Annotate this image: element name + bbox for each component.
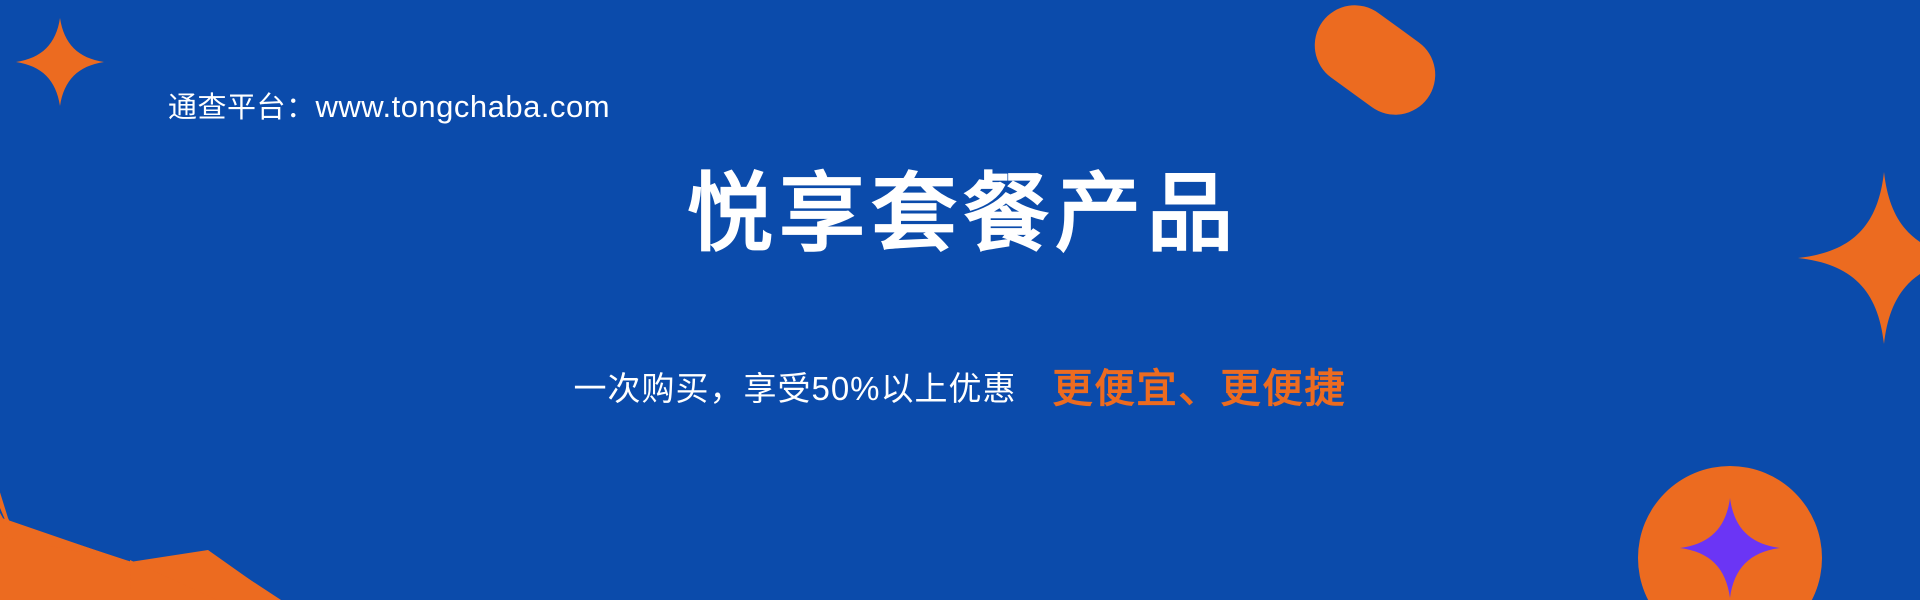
platform-url: www.tongchaba.com (316, 89, 611, 124)
subtitle-line: 一次购买，享受50%以上优惠更便宜、更便捷 (0, 360, 1920, 418)
platform-label: 通查平台： (168, 92, 316, 124)
subtitle-accent-text: 更便宜、更便捷 (1053, 367, 1347, 411)
text-layer: 通查平台：www.tongchaba.com 悦享套餐产品 一次购买，享受50%… (0, 0, 1920, 600)
promo-banner: 通查平台：www.tongchaba.com 悦享套餐产品 一次购买，享受50%… (0, 0, 1920, 600)
platform-line: 通查平台：www.tongchaba.com (168, 86, 610, 129)
subtitle-normal-text: 一次购买，享受50%以上优惠 (573, 370, 1016, 407)
page-title: 悦享套餐产品 (0, 160, 1920, 268)
